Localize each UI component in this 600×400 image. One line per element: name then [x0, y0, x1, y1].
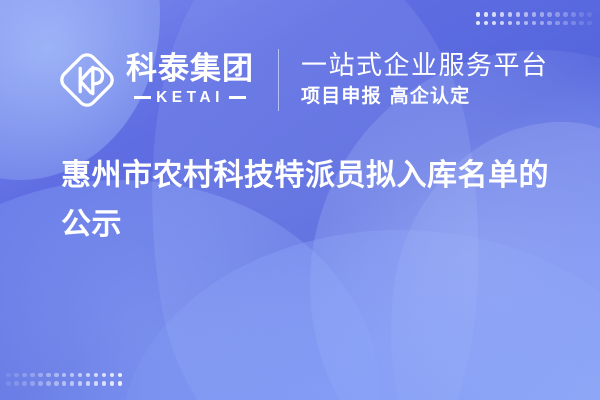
decor-dot — [102, 381, 107, 386]
decor-dot — [6, 381, 11, 386]
decor-dot — [587, 21, 592, 26]
decor-dot-grid-top-right — [476, 12, 592, 25]
decor-dot — [532, 12, 537, 17]
brand-name-cn: 科泰集团 — [126, 53, 254, 86]
decor-dot — [508, 12, 513, 17]
decor-dot — [46, 373, 51, 378]
decor-dot — [46, 381, 51, 386]
decor-dot — [516, 12, 521, 17]
decor-dot — [94, 373, 99, 378]
decor-dot — [14, 373, 19, 378]
decor-dot — [563, 12, 568, 17]
decor-dot — [476, 12, 481, 17]
dash-right-icon — [229, 96, 246, 99]
brand-wordmark: 科泰集团 KETAI — [126, 53, 254, 107]
decor-dot-row — [6, 381, 122, 386]
decor-dot-row — [476, 12, 592, 17]
decor-dot — [492, 12, 497, 17]
decor-dot — [14, 381, 19, 386]
decor-dot — [110, 373, 115, 378]
decor-dot-grid-bottom-left — [6, 373, 122, 386]
decor-dot-row — [476, 21, 592, 26]
promo-banner: 科泰集团 KETAI 一站式企业服务平台 项目申报 高企认定 惠州市农村科技特派… — [0, 0, 600, 400]
decor-dot — [524, 12, 529, 17]
decor-dot — [118, 373, 123, 378]
decor-dot — [6, 373, 11, 378]
decor-dot — [587, 12, 592, 17]
decor-dot — [540, 12, 545, 17]
tagline-block: 一站式企业服务平台 项目申报 高企认定 — [301, 51, 549, 109]
decor-dot — [86, 381, 91, 386]
brand-name-en: KETAI — [156, 89, 224, 107]
decor-dot — [38, 381, 43, 386]
decor-dot — [118, 381, 123, 386]
decor-dot — [547, 21, 552, 26]
brand-name-en-row: KETAI — [134, 89, 246, 107]
decor-dot — [54, 373, 59, 378]
decor-dot — [78, 381, 83, 386]
decor-dot — [62, 381, 67, 386]
decor-dot — [62, 373, 67, 378]
decor-dot — [563, 21, 568, 26]
decor-dot — [579, 12, 584, 17]
decor-dot — [102, 373, 107, 378]
decor-dot-row — [6, 373, 122, 378]
decor-dot — [30, 373, 35, 378]
decor-dot — [78, 373, 83, 378]
tagline-main: 一站式企业服务平台 — [301, 51, 549, 82]
decor-dot — [492, 21, 497, 26]
decor-dot — [476, 21, 481, 26]
decor-dot — [516, 21, 521, 26]
decor-dot — [500, 12, 505, 17]
decor-dot — [110, 381, 115, 386]
decor-dot — [571, 12, 576, 17]
decor-dot — [508, 21, 513, 26]
decor-dot — [484, 12, 489, 17]
decor-dot — [547, 12, 552, 17]
decor-dot — [70, 373, 75, 378]
dash-left-icon — [134, 96, 151, 99]
decor-dot — [571, 21, 576, 26]
decor-dot — [555, 12, 560, 17]
decor-dot — [94, 381, 99, 386]
page-title: 惠州市农村科技特派员拟入库名单的公示 — [61, 152, 561, 249]
decor-dot — [540, 21, 545, 26]
tagline-sub: 项目申报 高企认定 — [301, 84, 549, 109]
decor-dot — [500, 21, 505, 26]
decor-dot — [86, 373, 91, 378]
decor-dot — [54, 381, 59, 386]
ketai-diamond-monogram-icon — [56, 49, 118, 111]
decor-dot — [22, 373, 27, 378]
decor-dot — [484, 21, 489, 26]
banner-header: 科泰集团 KETAI 一站式企业服务平台 项目申报 高企认定 — [0, 40, 600, 120]
decor-dot — [555, 21, 560, 26]
decor-dot — [30, 381, 35, 386]
decor-dot — [532, 21, 537, 26]
decor-dot — [38, 373, 43, 378]
decor-dot — [22, 381, 27, 386]
decor-dot — [524, 21, 529, 26]
header-divider — [278, 49, 279, 111]
decor-dot — [579, 21, 584, 26]
decor-dot — [70, 381, 75, 386]
